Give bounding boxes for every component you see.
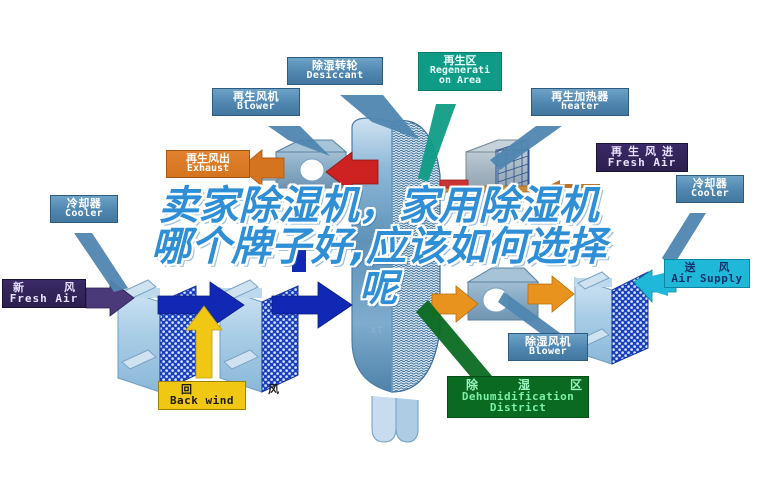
label-exhaust: 再生风出 Exhaust	[166, 150, 250, 178]
label-regeneration-heater: 再生加热器 heater	[531, 88, 629, 116]
diagram-canvas: xt	[0, 0, 757, 488]
label-regeneration-fresh-air-in: 再生风进 Fresh Air	[596, 143, 688, 172]
label-regeneration-area-en-2: on Area	[423, 76, 497, 86]
process-down-arrow	[292, 246, 306, 272]
label-regeneration-blower: 再生风机 Blower	[212, 88, 300, 116]
label-cooler-right-en: Cooler	[681, 189, 739, 199]
label-air-supply: 送 风 Air Supply	[664, 259, 750, 288]
label-desiccant-wheel: 除湿转轮 Desiccant	[287, 57, 383, 85]
label-fresh-air-in: 新 风 Fresh Air	[2, 279, 86, 308]
label-cooler-right: 冷却器 Cooler	[676, 175, 744, 203]
label-dehumidification-district-en-2: District	[452, 402, 584, 413]
label-dehumidify-blower-en: Blower	[513, 347, 583, 357]
label-regeneration-blower-en: Blower	[217, 102, 295, 112]
label-back-wind-en: Back wind	[163, 395, 241, 406]
label-exhaust-en: Exhaust	[171, 164, 245, 174]
label-dehumidify-blower: 除湿风机 Blower	[508, 333, 588, 361]
label-cooler-left-en: Cooler	[55, 209, 113, 219]
svg-text:xt: xt	[370, 323, 383, 336]
label-back-wind: 回 风 Back wind	[158, 381, 246, 410]
label-regeneration-heater-en: heater	[536, 102, 624, 112]
label-regeneration-area: 再生区 Regenerati on Area	[418, 52, 502, 91]
label-cooler-left: 冷却器 Cooler	[50, 195, 118, 223]
label-fresh-air-in-en: Fresh Air	[7, 293, 81, 304]
label-regeneration-fresh-air-in-en: Fresh Air	[601, 157, 683, 168]
label-desiccant-wheel-en: Desiccant	[292, 71, 378, 81]
label-dehumidification-district: 除 湿 区 Dehumidification District	[447, 376, 589, 418]
label-air-supply-en: Air Supply	[669, 273, 745, 284]
